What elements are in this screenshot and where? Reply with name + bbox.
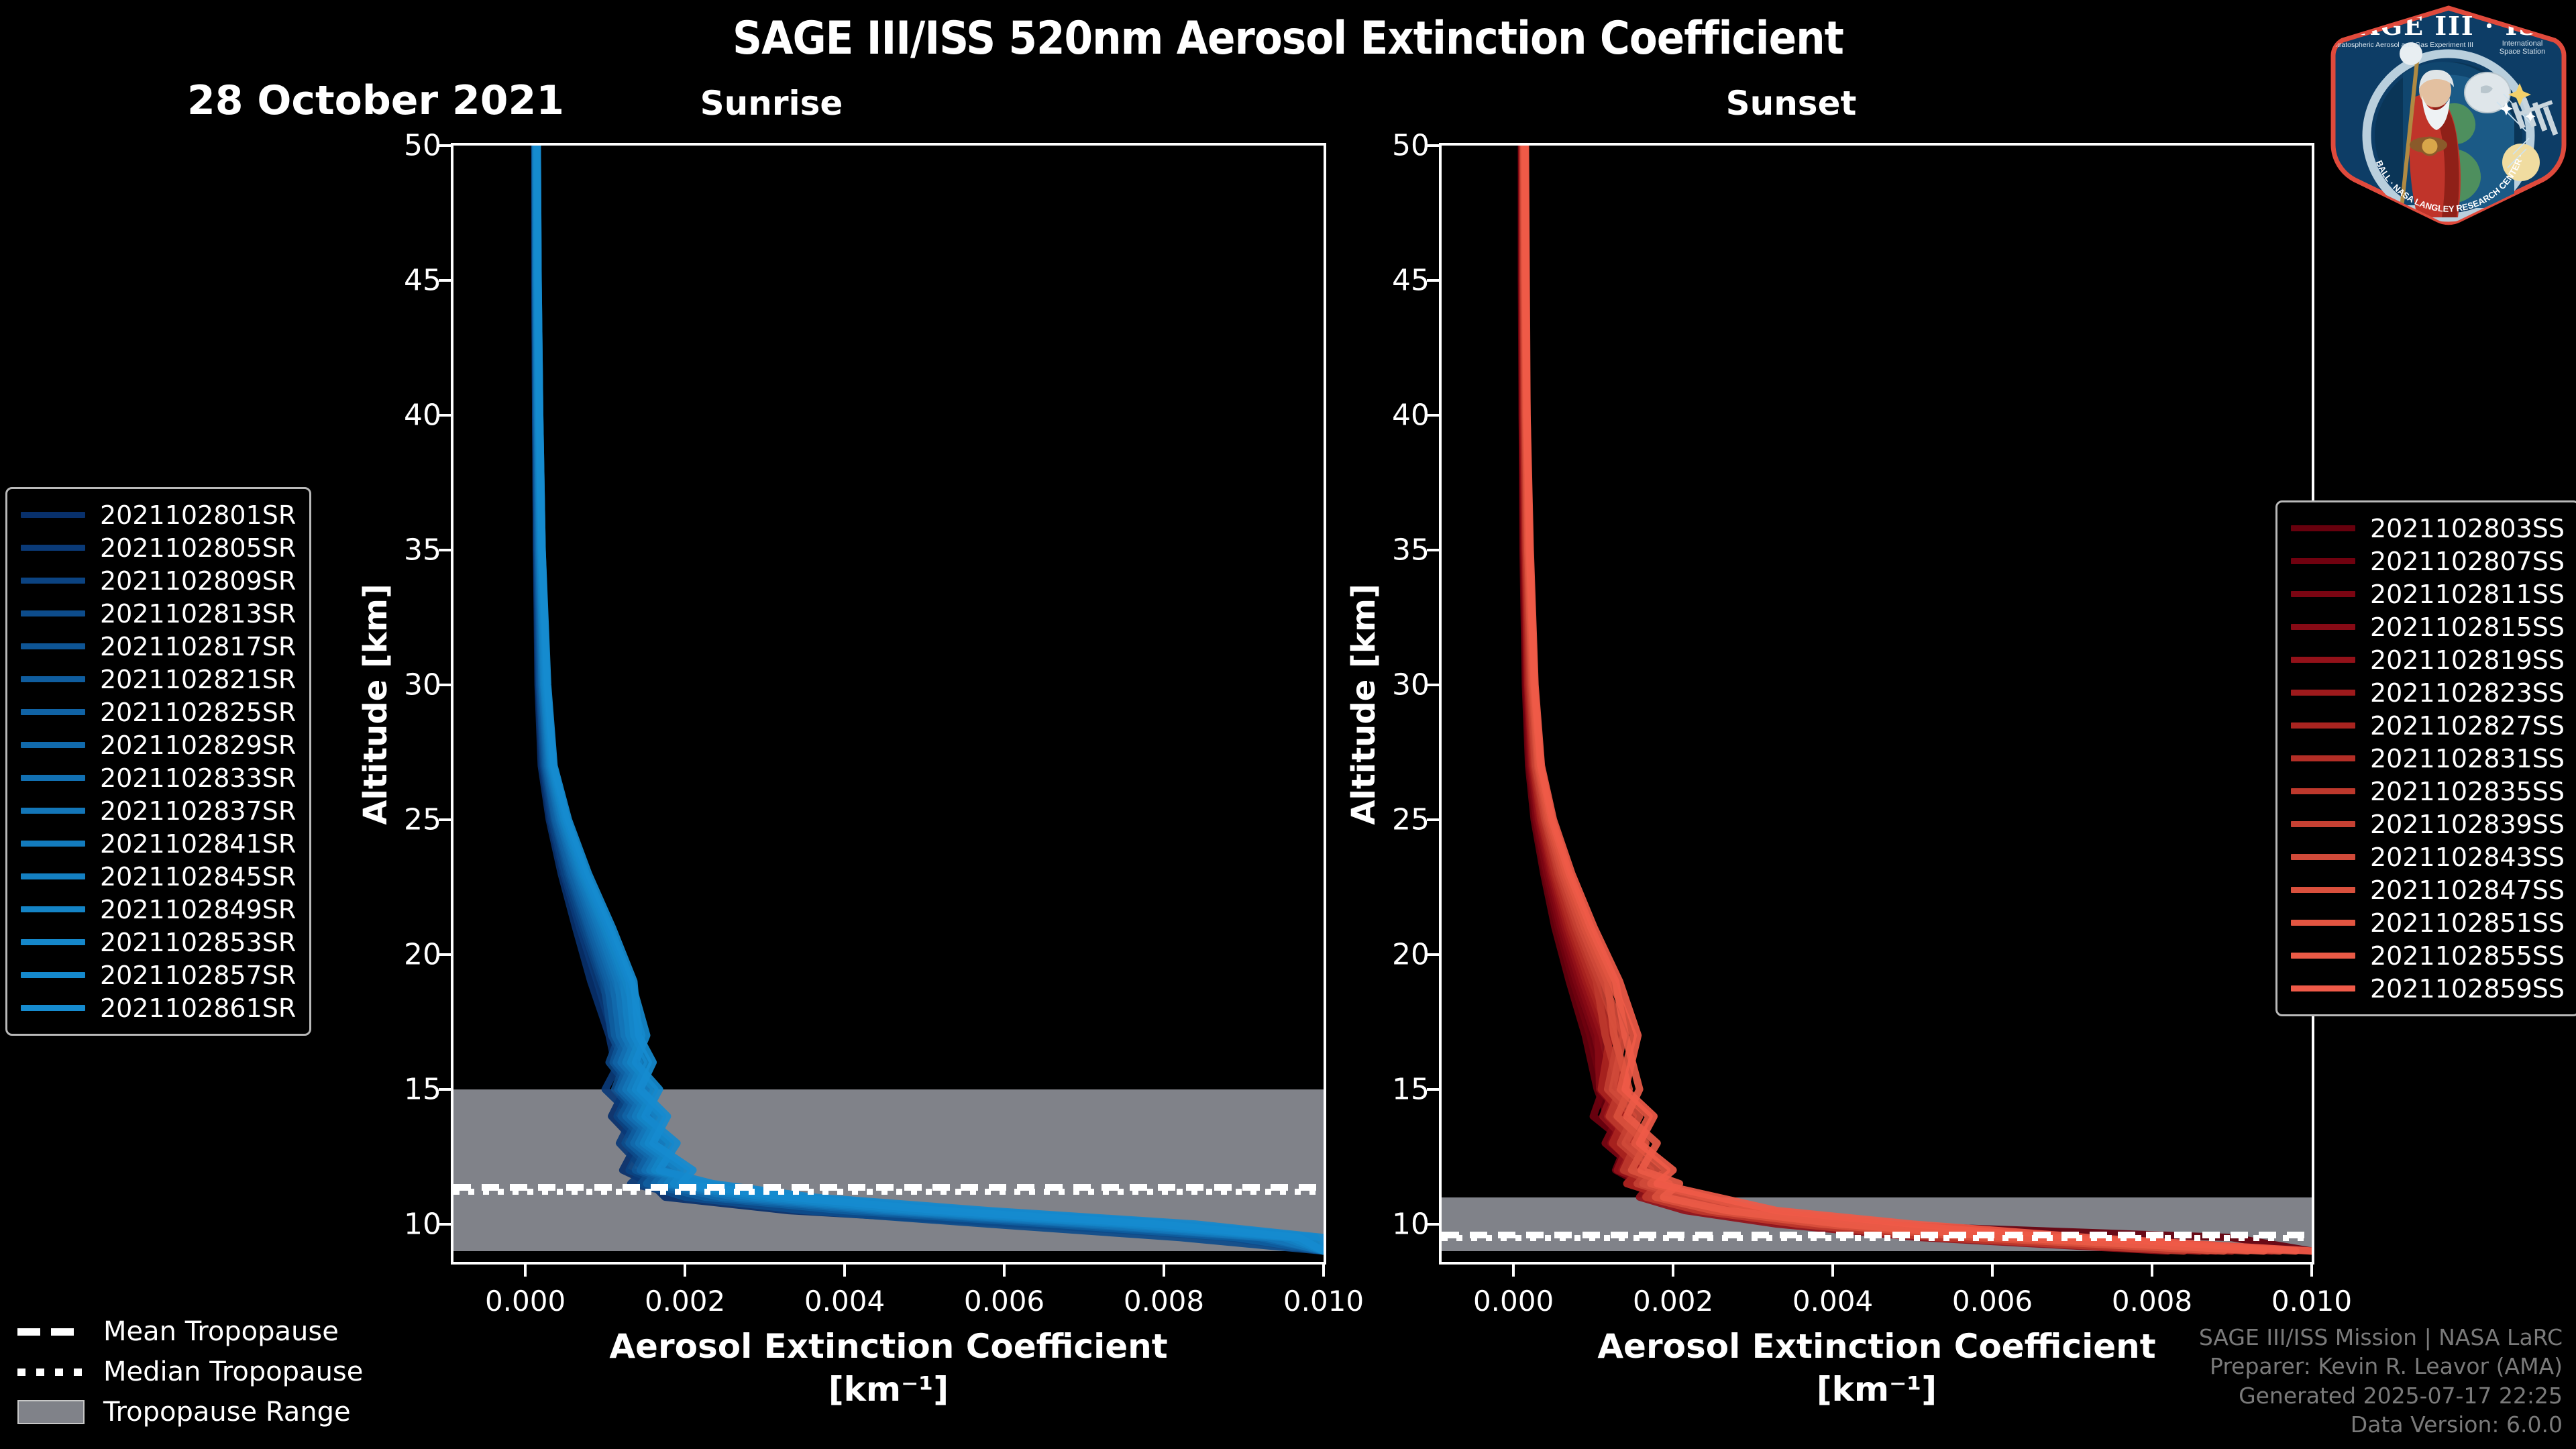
y-axis-tick-mark	[439, 1223, 453, 1226]
legend-color-swatch	[21, 1005, 85, 1011]
legend-item-label: 2021102805SR	[100, 533, 296, 563]
y-axis-tick-label: 35	[404, 533, 441, 567]
legend-item-label: 2021102839SS	[2370, 810, 2565, 839]
tropopause-line-swatch	[17, 1368, 85, 1376]
legend-item[interactable]: 2021102859SS	[2291, 972, 2565, 1005]
x-axis-tick-label: 0.000	[485, 1285, 566, 1318]
legend-color-swatch	[21, 808, 85, 814]
series-line	[1524, 146, 2248, 1251]
legend-item-label: 2021102823SS	[2370, 678, 2565, 708]
sunrise-xaxis-label: Aerosol Extinction Coefficient [km⁻¹]	[451, 1325, 1326, 1411]
legend-item-label: 2021102837SR	[100, 796, 296, 826]
legend-item[interactable]: 2021102853SR	[21, 926, 296, 959]
x-axis-tick-mark	[1831, 1262, 1834, 1277]
legend-item-label: 2021102835SS	[2370, 777, 2565, 806]
x-axis-tick-mark	[2310, 1262, 2313, 1277]
y-axis-tick-mark	[1427, 1223, 1442, 1226]
legend-color-swatch	[21, 512, 85, 518]
legend-item[interactable]: 2021102809SR	[21, 564, 296, 597]
legend-color-swatch	[2291, 854, 2355, 860]
legend-item-label: 2021102845SR	[100, 862, 296, 892]
tropopause-legend-label: Mean Tropopause	[103, 1316, 339, 1347]
legend-item-label: 2021102833SR	[100, 763, 296, 793]
legend-item-label: 2021102849SR	[100, 895, 296, 924]
legend-color-swatch	[21, 610, 85, 616]
y-axis-tick-label: 15	[404, 1072, 441, 1106]
y-axis-tick-mark	[1427, 414, 1442, 417]
legend-item-label: 2021102847SS	[2370, 875, 2565, 905]
legend-color-swatch	[21, 578, 85, 584]
y-axis-tick-label: 45	[1392, 263, 1430, 297]
y-axis-tick-mark	[439, 953, 453, 956]
y-axis-tick-mark	[1427, 953, 1442, 956]
y-axis-tick-label: 40	[1392, 398, 1430, 432]
legend-item[interactable]: 2021102833SR	[21, 761, 296, 794]
footer-generated: Generated 2025-07-17 22:25	[2199, 1381, 2563, 1411]
legend-item[interactable]: 2021102843SS	[2291, 841, 2565, 873]
legend-item[interactable]: 2021102817SR	[21, 630, 296, 663]
legend-item-label: 2021102855SS	[2370, 941, 2565, 971]
legend-item[interactable]: 2021102829SR	[21, 729, 296, 761]
sunrise-panel-title: Sunrise	[604, 84, 939, 123]
xaxis-label-text: Aerosol Extinction Coefficient	[1597, 1327, 2155, 1366]
legend-item[interactable]: 2021102851SS	[2291, 906, 2565, 939]
tropopause-legend-item[interactable]: Tropopause Range	[17, 1392, 363, 1432]
x-axis-tick-mark	[1672, 1262, 1674, 1277]
series-line	[537, 146, 1324, 1251]
legend-color-swatch	[2291, 953, 2355, 959]
legend-item-label: 2021102813SR	[100, 599, 296, 629]
series-lines	[453, 146, 1324, 1262]
legend-item[interactable]: 2021102821SR	[21, 663, 296, 696]
legend-item-label: 2021102803SS	[2370, 514, 2565, 543]
legend-color-swatch	[21, 939, 85, 945]
legend-color-swatch	[2291, 887, 2355, 893]
y-axis-tick-mark	[1427, 818, 1442, 821]
xaxis-label-text: Aerosol Extinction Coefficient	[609, 1327, 1167, 1366]
legend-item-label: 2021102857SR	[100, 961, 296, 990]
legend-item-label: 2021102827SS	[2370, 711, 2565, 741]
y-axis-tick-label: 15	[1392, 1072, 1430, 1106]
x-axis-tick-label: 0.006	[1952, 1285, 2033, 1318]
y-axis-tick-label: 25	[404, 802, 441, 837]
legend-item-label: 2021102815SS	[2370, 612, 2565, 642]
legend-color-swatch	[21, 545, 85, 551]
y-axis-tick-label: 50	[1392, 129, 1430, 163]
legend-item-label: 2021102861SR	[100, 994, 296, 1023]
tropopause-legend-label: Median Tropopause	[103, 1356, 363, 1387]
legend-item-label: 2021102817SR	[100, 632, 296, 661]
legend-item-label: 2021102809SR	[100, 566, 296, 596]
x-axis-tick-mark	[1163, 1262, 1165, 1277]
x-axis-tick-label: 0.004	[804, 1285, 885, 1318]
sunrise-plot-panel: 1015202530354045500.0000.0020.0040.0060.…	[451, 143, 1326, 1265]
series-line	[1525, 146, 2264, 1251]
sunrise-plot-area	[453, 146, 1324, 1262]
x-axis-tick-label: 0.006	[964, 1285, 1044, 1318]
y-axis-tick-label: 10	[404, 1207, 441, 1241]
legend-color-swatch	[2291, 821, 2355, 827]
legend-item[interactable]: 2021102847SS	[2291, 873, 2565, 906]
x-axis-tick-label: 0.008	[1124, 1285, 1204, 1318]
legend-item-label: 2021102841SR	[100, 829, 296, 859]
x-axis-tick-mark	[1003, 1262, 1006, 1277]
legend-item[interactable]: 2021102807SS	[2291, 545, 2565, 578]
x-axis-tick-label: 0.008	[2112, 1285, 2192, 1318]
legend-item-label: 2021102831SS	[2370, 744, 2565, 773]
legend-item-label: 2021102807SS	[2370, 547, 2565, 576]
legend-color-swatch	[2291, 624, 2355, 630]
legend-item-label: 2021102851SS	[2370, 908, 2565, 938]
x-axis-tick-mark	[1322, 1262, 1325, 1277]
legend-color-swatch	[21, 972, 85, 978]
svg-text:Space Station: Space Station	[2500, 48, 2546, 56]
legend-item[interactable]: 2021102819SS	[2291, 643, 2565, 676]
y-axis-tick-mark	[439, 684, 453, 686]
series-lines	[1442, 146, 2312, 1262]
legend-item[interactable]: 2021102827SS	[2291, 709, 2565, 742]
tropopause-legend-item[interactable]: Median Tropopause	[17, 1352, 363, 1392]
legend-item[interactable]: 2021102831SS	[2291, 742, 2565, 775]
legend-color-swatch	[2291, 920, 2355, 926]
legend-color-swatch	[2291, 657, 2355, 663]
legend-color-swatch	[2291, 755, 2355, 761]
sunset-series-legend: 2021102803SS2021102807SS2021102811SS2021…	[2275, 500, 2576, 1016]
legend-color-swatch	[21, 873, 85, 879]
y-axis-tick-label: 50	[404, 129, 441, 163]
legend-item-label: 2021102821SR	[100, 665, 296, 694]
legend-color-swatch	[21, 742, 85, 748]
sunset-panel-title: Sunset	[1623, 84, 1959, 123]
y-axis-tick-mark	[439, 1088, 453, 1091]
legend-item[interactable]: 2021102805SR	[21, 531, 296, 564]
y-axis-tick-mark	[1427, 684, 1442, 686]
sunset-yaxis-label: Altitude [km]	[1345, 584, 1383, 825]
series-line	[1525, 146, 2312, 1251]
tropopause-range-swatch	[17, 1400, 85, 1424]
legend-item[interactable]: 2021102839SS	[2291, 808, 2565, 841]
y-axis-tick-label: 10	[1392, 1207, 1430, 1241]
x-axis-tick-label: 0.002	[1633, 1285, 1713, 1318]
page-title: SAGE III/ISS 520nm Aerosol Extinction Co…	[0, 12, 2576, 65]
legend-item-label: 2021102825SR	[100, 698, 296, 727]
y-axis-tick-label: 40	[404, 398, 441, 432]
legend-item[interactable]: 2021102861SR	[21, 991, 296, 1024]
xaxis-unit-text: [km⁻¹]	[828, 1370, 949, 1409]
y-axis-tick-mark	[1427, 1088, 1442, 1091]
footer-preparer: Preparer: Kevin R. Leavor (AMA)	[2199, 1352, 2563, 1381]
legend-item[interactable]: 2021102823SS	[2291, 676, 2565, 709]
legend-item[interactable]: 2021102813SR	[21, 597, 296, 630]
x-axis-tick-label: 0.000	[1473, 1285, 1554, 1318]
legend-item[interactable]: 2021102845SR	[21, 860, 296, 893]
svg-text:SAGE III · ISS: SAGE III · ISS	[2340, 11, 2557, 41]
legend-item[interactable]: 2021102801SR	[21, 498, 296, 531]
svg-text:Stratospheric Aerosol and Gas: Stratospheric Aerosol and Gas Experiment…	[2332, 41, 2473, 49]
legend-item-label: 2021102811SS	[2370, 580, 2565, 609]
legend-item[interactable]: 2021102803SS	[2291, 512, 2565, 545]
sunset-xaxis-label: Aerosol Extinction Coefficient [km⁻¹]	[1439, 1325, 2314, 1411]
median-tropopause-line	[453, 1189, 1324, 1195]
median-tropopause-line	[1442, 1235, 2312, 1241]
y-axis-tick-mark	[1427, 549, 1442, 551]
y-axis-tick-label: 20	[404, 937, 441, 971]
xaxis-unit-text: [km⁻¹]	[1817, 1370, 1937, 1409]
x-axis-tick-mark	[2151, 1262, 2153, 1277]
legend-item-label: 2021102829SR	[100, 731, 296, 760]
legend-item[interactable]: 2021102835SS	[2291, 775, 2565, 808]
sunset-plot-panel: 1015202530354045500.0000.0020.0040.0060.…	[1439, 143, 2314, 1265]
x-axis-tick-mark	[684, 1262, 686, 1277]
tropopause-line-swatch	[17, 1328, 85, 1336]
legend-item-label: 2021102801SR	[100, 500, 296, 530]
legend-item[interactable]: 2021102855SS	[2291, 939, 2565, 972]
sunrise-series-legend: 2021102801SR2021102805SR2021102809SR2021…	[5, 487, 311, 1036]
footer-mission: SAGE III/ISS Mission | NASA LaRC	[2199, 1323, 2563, 1352]
x-axis-tick-label: 0.002	[645, 1285, 725, 1318]
legend-color-swatch	[21, 676, 85, 682]
legend-item[interactable]: 2021102811SS	[2291, 578, 2565, 610]
tropopause-legend: Mean TropopauseMedian TropopauseTropopau…	[17, 1311, 363, 1432]
legend-color-swatch	[21, 906, 85, 912]
y-axis-tick-mark	[439, 144, 453, 147]
y-axis-tick-label: 25	[1392, 802, 1430, 837]
legend-color-swatch	[21, 841, 85, 847]
x-axis-tick-mark	[843, 1262, 846, 1277]
legend-item[interactable]: 2021102825SR	[21, 696, 296, 729]
legend-color-swatch	[2291, 591, 2355, 597]
footer-metadata: SAGE III/ISS Mission | NASA LaRC Prepare…	[2199, 1323, 2563, 1440]
legend-item[interactable]: 2021102857SR	[21, 959, 296, 991]
legend-item-label: 2021102843SS	[2370, 843, 2565, 872]
x-axis-tick-label: 0.010	[2271, 1285, 2352, 1318]
legend-color-swatch	[2291, 985, 2355, 991]
legend-color-swatch	[2291, 558, 2355, 564]
sunrise-yaxis-label: Altitude [km]	[357, 584, 394, 825]
legend-color-swatch	[2291, 722, 2355, 729]
y-axis-tick-label: 30	[1392, 667, 1430, 702]
legend-color-swatch	[2291, 525, 2355, 531]
x-axis-tick-label: 0.010	[1283, 1285, 1364, 1318]
sage-iii-iss-logo: SAGE III · ISS Stratospheric Aerosol and…	[2328, 4, 2569, 225]
y-axis-tick-mark	[1427, 279, 1442, 282]
legend-color-swatch	[2291, 788, 2355, 794]
legend-color-swatch	[21, 709, 85, 715]
x-axis-tick-label: 0.004	[1792, 1285, 1873, 1318]
footer-dataversion: Data Version: 6.0.0	[2199, 1410, 2563, 1440]
legend-item-label: 2021102819SS	[2370, 645, 2565, 675]
y-axis-tick-label: 35	[1392, 533, 1430, 567]
y-axis-tick-mark	[439, 818, 453, 821]
tropopause-legend-item[interactable]: Mean Tropopause	[17, 1311, 363, 1352]
y-axis-tick-mark	[439, 549, 453, 551]
tropopause-legend-label: Tropopause Range	[103, 1397, 351, 1428]
legend-color-swatch	[21, 775, 85, 781]
y-axis-tick-mark	[439, 279, 453, 282]
legend-item[interactable]: 2021102837SR	[21, 794, 296, 827]
x-axis-tick-mark	[1512, 1262, 1515, 1277]
y-axis-tick-mark	[1427, 144, 1442, 147]
legend-color-swatch	[2291, 690, 2355, 696]
legend-item[interactable]: 2021102841SR	[21, 827, 296, 860]
sunset-plot-area	[1442, 146, 2312, 1262]
svg-text:International: International	[2502, 40, 2543, 48]
legend-item[interactable]: 2021102849SR	[21, 893, 296, 926]
y-axis-tick-label: 20	[1392, 937, 1430, 971]
x-axis-tick-mark	[1991, 1262, 1994, 1277]
legend-color-swatch	[21, 643, 85, 649]
legend-item[interactable]: 2021102815SS	[2291, 610, 2565, 643]
y-axis-tick-mark	[439, 414, 453, 417]
legend-item-label: 2021102859SS	[2370, 974, 2565, 1004]
legend-item-label: 2021102853SR	[100, 928, 296, 957]
y-axis-tick-label: 45	[404, 263, 441, 297]
x-axis-tick-mark	[524, 1262, 527, 1277]
y-axis-tick-label: 30	[404, 667, 441, 702]
